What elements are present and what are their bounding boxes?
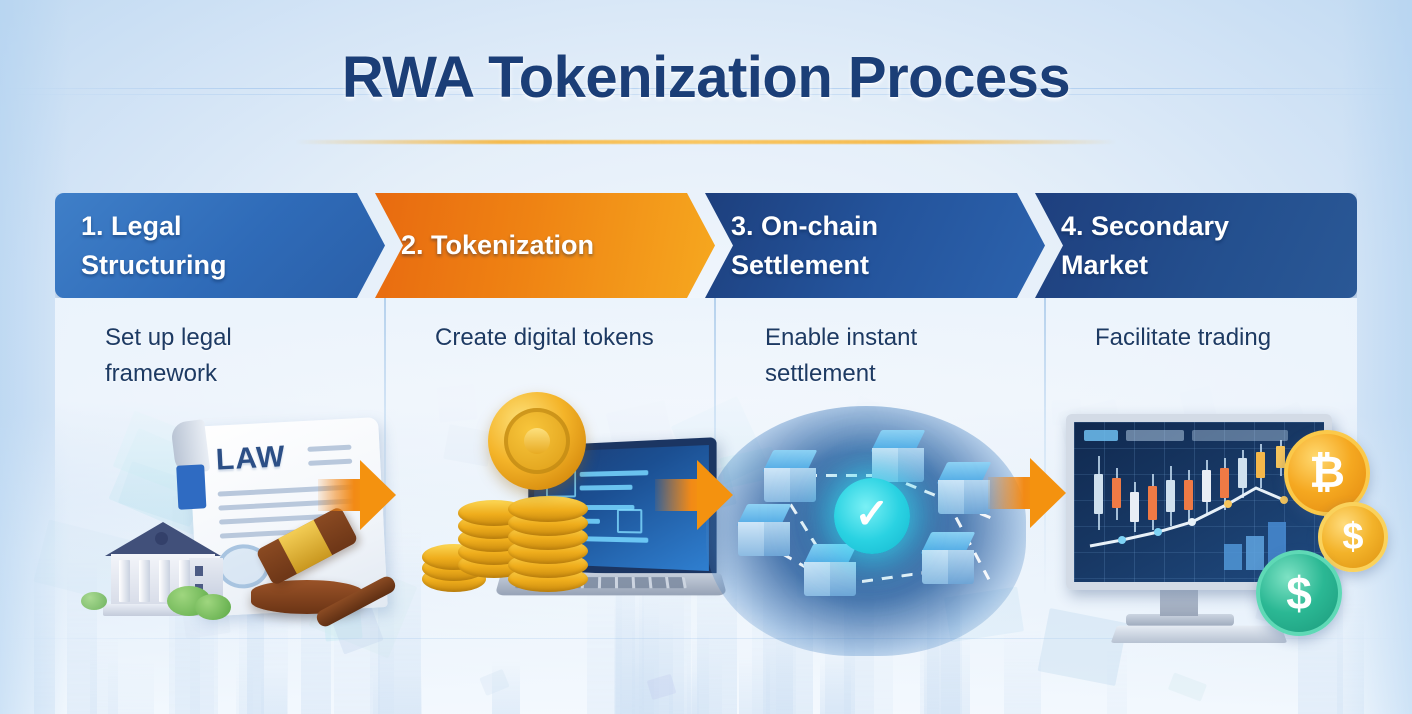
step-2-title-line1: 2. Tokenization xyxy=(401,226,594,264)
digital-token-coin-icon xyxy=(488,392,586,490)
desk-keyboard xyxy=(1111,626,1287,643)
arrow-step1-to-step2 xyxy=(318,460,398,530)
blockchain-cube-1 xyxy=(762,450,818,506)
step-1-title-line2: Structuring xyxy=(81,246,227,284)
blockchain-cube-4 xyxy=(736,504,792,560)
teal-dollar-coin-icon: $ xyxy=(1256,550,1342,636)
blockchain-cube-3 xyxy=(936,462,992,518)
step-1-description: Set up legal framework xyxy=(105,320,325,391)
step-4-description: Facilitate trading xyxy=(1095,320,1315,356)
bitcoin-symbol: ₿ xyxy=(1309,448,1345,498)
arrow-step2-to-step3 xyxy=(655,460,735,530)
title-underline-accent xyxy=(296,140,1116,144)
step-1-title-line1: 1. Legal xyxy=(81,207,227,245)
document-blue-tab xyxy=(176,464,206,509)
step-4-title-line1: 4. Secondary Market xyxy=(1061,207,1323,284)
infographic-canvas: RWA Tokenization Process 1. Legal Struct… xyxy=(0,0,1412,714)
step-3-description: Enable instant settlement xyxy=(765,320,985,391)
page-title-block: RWA Tokenization Process xyxy=(0,48,1412,109)
bush-decoration-3 xyxy=(81,592,107,610)
step-3-title-line1: 3. On-chain xyxy=(731,207,878,245)
verified-checkmark-icon: ✓ xyxy=(834,478,910,554)
arrow-step3-to-step4 xyxy=(988,458,1068,528)
step-header-tokenization[interactable]: 2. Tokenization xyxy=(375,193,715,298)
process-step-headers: 1. Legal Structuring 2. Tokenization 3. … xyxy=(55,193,1357,298)
illustration-on-chain-settlement: ✓ xyxy=(710,400,1030,650)
gold-dollar-symbol: $ xyxy=(1342,516,1363,559)
blockchain-cube-6 xyxy=(920,532,976,588)
illustration-secondary-market: ₿ $ $ xyxy=(1030,410,1380,650)
step-header-legal-structuring[interactable]: 1. Legal Structuring xyxy=(55,193,385,298)
step-2-description: Create digital tokens xyxy=(435,320,655,356)
blockchain-cube-5 xyxy=(802,544,858,600)
step-header-on-chain-settlement[interactable]: 3. On-chain Settlement xyxy=(705,193,1045,298)
law-document-label: LAW xyxy=(215,440,286,478)
teal-dollar-symbol: $ xyxy=(1286,566,1312,620)
monitor-stand xyxy=(1160,586,1198,616)
bush-decoration-2 xyxy=(195,594,231,620)
step-3-title-line2: Settlement xyxy=(731,246,878,284)
step-header-secondary-market[interactable]: 4. Secondary Market xyxy=(1035,193,1357,298)
page-title: RWA Tokenization Process xyxy=(0,48,1412,109)
